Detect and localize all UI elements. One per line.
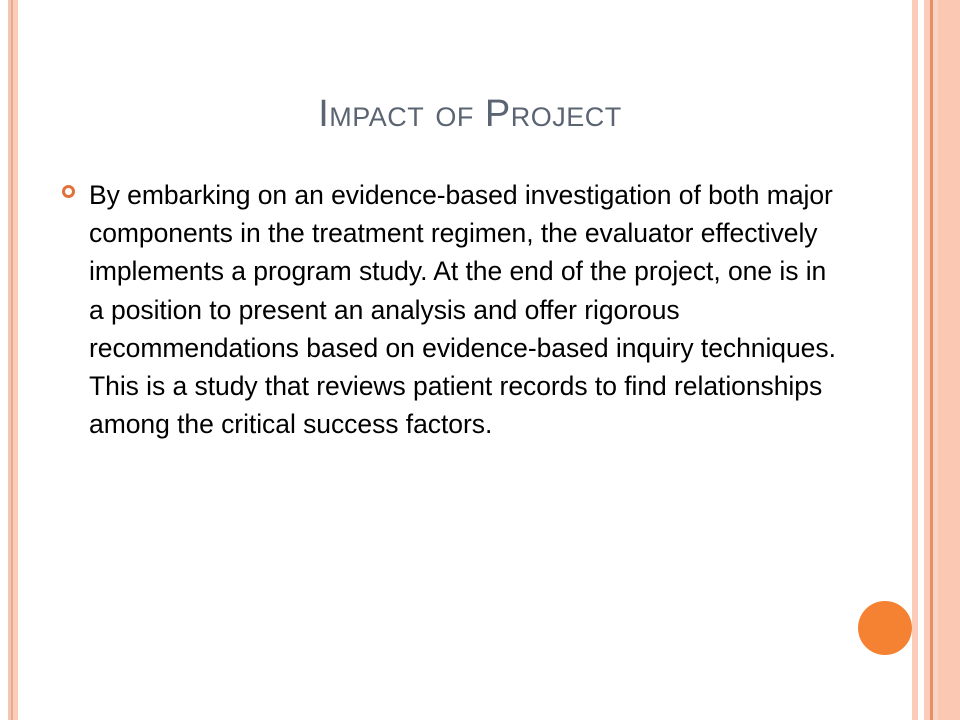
bullet-item-text: By embarking on an evidence-based invest… (89, 176, 846, 443)
slide-canvas: Impact of Project By embarking on an evi… (0, 0, 960, 720)
right-border-stripe-1 (912, 0, 918, 720)
right-border-stripe-5 (938, 0, 960, 720)
right-border-stripe-3 (930, 0, 933, 720)
right-border-stripe-4 (933, 0, 938, 720)
left-border-stripe-1 (8, 0, 11, 720)
slide-title: Impact of Project (60, 94, 880, 136)
left-border-stripe-3 (13, 0, 18, 720)
orange-dot-decoration (858, 601, 912, 655)
hollow-circle-bullet-icon (62, 185, 75, 198)
bullet-list-item: By embarking on an evidence-based invest… (56, 176, 846, 443)
right-border-stripe-2 (924, 0, 930, 720)
left-border-stripe-2 (11, 0, 13, 720)
slide-body: By embarking on an evidence-based invest… (56, 176, 846, 443)
